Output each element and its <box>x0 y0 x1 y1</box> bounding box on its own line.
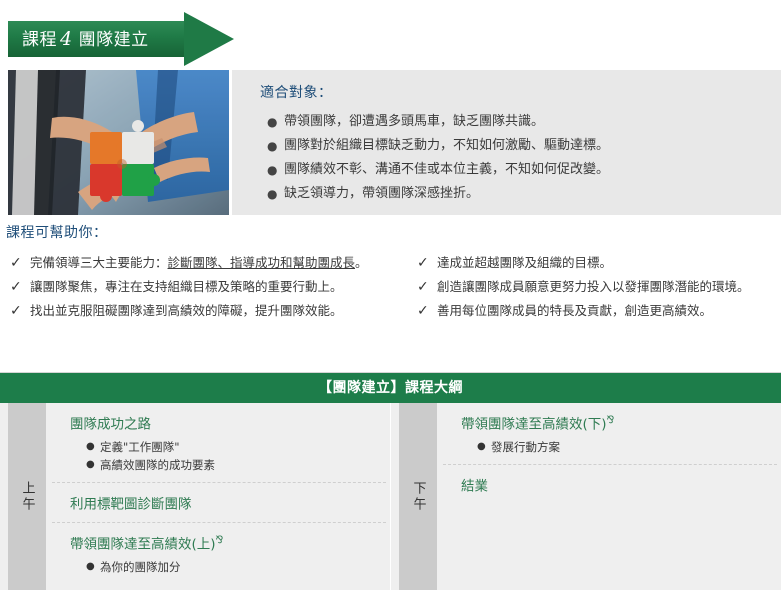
outline-afternoon-half: 下午 帶領團隊達至高績效(下)⅋ ●發展行動方案 結業 <box>391 403 781 590</box>
period-label-text: 上午 <box>21 481 34 513</box>
puzzle-photo-illustration <box>8 70 229 215</box>
bullet-icon: ● <box>267 182 277 206</box>
session-sup-mark: ⅋ <box>607 415 615 426</box>
session-title-text: 帶領團隊達至高績效(下) <box>461 417 607 433</box>
check-icon: ✓ <box>10 276 22 298</box>
bullet-icon: ● <box>267 158 277 182</box>
session-title: 帶領團隊達至高績效(下)⅋ <box>461 411 777 435</box>
teamwork-puzzle-photo <box>8 70 229 215</box>
outline-header-title: 【團隊建立】課程大綱 <box>0 373 781 403</box>
session-block[interactable]: 帶領團隊達至高績效(上)⅋ ●為你的團隊加分 <box>52 523 386 584</box>
list-item: ✓達成並超越團隊及組織的目標。 <box>415 252 781 274</box>
check-icon: ✓ <box>417 252 429 274</box>
outline-morning-half: 上午 團隊成功之路 ●定義"工作團隊" ●高績效團隊的成功要素 利用標靶圖診斷團… <box>0 403 391 590</box>
session-bullet-list: ●定義"工作團隊" ●高績效團隊的成功要素 <box>70 438 386 474</box>
check-icon: ✓ <box>417 276 429 298</box>
period-label-text: 下午 <box>412 481 425 513</box>
course-outline-table: 【團隊建立】課程大綱 上午 團隊成功之路 ●定義"工作團隊" ●高績效團隊的成功… <box>0 372 781 590</box>
session-title: 帶領團隊達至高績效(上)⅋ <box>70 531 386 555</box>
benefit-text: 達成並超越團隊及組織的目標。 <box>437 255 612 270</box>
course-title: 團隊建立 <box>79 30 149 50</box>
session-block[interactable]: 團隊成功之路 ●定義"工作團隊" ●高績效團隊的成功要素 <box>52 403 386 483</box>
session-bullet-text: 高績效團隊的成功要素 <box>100 458 215 472</box>
bullet-icon: ● <box>86 558 95 576</box>
bullet-icon: ● <box>267 134 277 158</box>
list-item: ✓讓團隊聚焦，專注在支持組織目標及策略的重要行動上。 <box>8 276 408 298</box>
session-bullet-text: 為你的團隊加分 <box>100 560 181 574</box>
audience-item-text: 團隊對於組織目標缺乏動力，不知如何激勵、驅動達標。 <box>284 138 609 153</box>
morning-sessions: 團隊成功之路 ●定義"工作團隊" ●高績效團隊的成功要素 利用標靶圖診斷團隊 帶… <box>52 403 386 590</box>
list-item: ✓善用每位團隊成員的特長及貢獻，創造更高績效。 <box>415 300 781 322</box>
check-icon: ✓ <box>10 252 22 274</box>
session-block[interactable]: 帶領團隊達至高績效(下)⅋ ●發展行動方案 <box>443 403 777 465</box>
session-bullet-list: ●發展行動方案 <box>461 438 777 456</box>
audience-list: ●帶領團隊，卻遭遇多頭馬車，缺乏團隊共識。 ●團隊對於組織目標缺乏動力，不知如何… <box>262 110 609 206</box>
session-title-text: 帶領團隊達至高績效(上) <box>70 537 216 553</box>
check-icon: ✓ <box>10 300 22 322</box>
benefit-text-underlined: 診斷團隊、指導成功和幫助團成長 <box>168 255 356 270</box>
list-item: ●定義"工作團隊" <box>86 438 386 456</box>
session-title: 團隊成功之路 <box>70 411 386 435</box>
session-sup-mark: ⅋ <box>216 535 224 546</box>
bullet-icon: ● <box>267 110 277 134</box>
session-title-text: 結業 <box>461 478 488 494</box>
list-item: ●高績效團隊的成功要素 <box>86 456 386 474</box>
audience-item-text: 缺乏領導力，帶領團隊深感挫折。 <box>284 186 479 201</box>
course-arrow-banner: 課程4團隊建立 <box>8 12 240 66</box>
list-item: ●發展行動方案 <box>477 438 777 456</box>
session-title-text: 利用標靶圖診斷團隊 <box>70 496 192 512</box>
session-title: 結業 <box>461 473 777 497</box>
bullet-icon: ● <box>86 456 95 474</box>
session-block[interactable]: 結業 <box>443 465 777 505</box>
benefit-text: 創造讓團隊成員願意更努力投入以發揮團隊潛能的環境。 <box>437 279 750 294</box>
audience-title: 適合對象： <box>260 82 333 102</box>
check-icon: ✓ <box>417 300 429 322</box>
list-item: ✓完備領導三大主要能力：診斷團隊、指導成功和幫助團成長。 <box>8 252 408 274</box>
session-bullet-text: 定義"工作團隊" <box>100 440 180 454</box>
session-title: 利用標靶圖診斷團隊 <box>70 491 386 515</box>
info-band: 適合對象： ●帶領團隊，卻遭遇多頭馬車，缺乏團隊共識。 ●團隊對於組織目標缺乏動… <box>0 70 781 215</box>
course-number: 4 <box>57 28 79 50</box>
list-item: ●為你的團隊加分 <box>86 558 386 576</box>
benefits-title: 課程可幫助你： <box>6 222 108 242</box>
benefit-text-prefix: 完備領導三大主要能力： <box>30 255 168 270</box>
list-item: ●團隊績效不彰、溝通不佳或本位主義，不知如何促改變。 <box>262 158 609 182</box>
session-bullet-list: ●為你的團隊加分 <box>70 558 386 576</box>
list-item: ●缺乏領導力，帶領團隊深感挫折。 <box>262 182 609 206</box>
bullet-icon: ● <box>477 438 486 456</box>
benefits-section: ✓完備領導三大主要能力：診斷團隊、指導成功和幫助團成長。 ✓讓團隊聚焦，專注在支… <box>0 252 781 362</box>
session-bullet-text: 發展行動方案 <box>491 440 560 454</box>
arrow-banner-text: 課程4團隊建立 <box>22 21 149 57</box>
benefit-text: 找出並克服阻礙團隊達到高績效的障礙，提升團隊效能。 <box>30 303 343 318</box>
benefit-text: 善用每位團隊成員的特長及貢獻，創造更高績效。 <box>437 303 712 318</box>
benefits-left-column: ✓完備領導三大主要能力：診斷團隊、指導成功和幫助團成長。 ✓讓團隊聚焦，專注在支… <box>8 252 408 324</box>
session-title-text: 團隊成功之路 <box>70 417 151 433</box>
list-item: ✓創造讓團隊成員願意更努力投入以發揮團隊潛能的環境。 <box>415 276 781 298</box>
audience-panel: 適合對象： ●帶領團隊，卻遭遇多頭馬車，缺乏團隊共識。 ●團隊對於組織目標缺乏動… <box>232 70 781 215</box>
list-item: ●團隊對於組織目標缺乏動力，不知如何激勵、驅動達標。 <box>262 134 609 158</box>
period-label-afternoon: 下午 <box>399 403 437 590</box>
benefit-text-suffix: 。 <box>355 255 368 270</box>
outline-body: 上午 團隊成功之路 ●定義"工作團隊" ●高績效團隊的成功要素 利用標靶圖診斷團… <box>0 403 781 590</box>
bullet-icon: ● <box>86 438 95 456</box>
afternoon-sessions: 帶領團隊達至高績效(下)⅋ ●發展行動方案 結業 <box>443 403 777 590</box>
benefit-text: 讓團隊聚焦，專注在支持組織目標及策略的重要行動上。 <box>30 279 343 294</box>
audience-item-text: 團隊績效不彰、溝通不佳或本位主義，不知如何促改變。 <box>284 162 609 177</box>
course-label: 課程 <box>22 30 57 50</box>
list-item: ●帶領團隊，卻遭遇多頭馬車，缺乏團隊共識。 <box>262 110 609 134</box>
session-block[interactable]: 利用標靶圖診斷團隊 <box>52 483 386 524</box>
audience-item-text: 帶領團隊，卻遭遇多頭馬車，缺乏團隊共識。 <box>284 114 544 129</box>
benefits-right-column: ✓達成並超越團隊及組織的目標。 ✓創造讓團隊成員願意更努力投入以發揮團隊潛能的環… <box>415 252 781 324</box>
arrow-head-icon <box>184 12 234 66</box>
list-item: ✓找出並克服阻礙團隊達到高績效的障礙，提升團隊效能。 <box>8 300 408 322</box>
period-label-morning: 上午 <box>8 403 46 590</box>
